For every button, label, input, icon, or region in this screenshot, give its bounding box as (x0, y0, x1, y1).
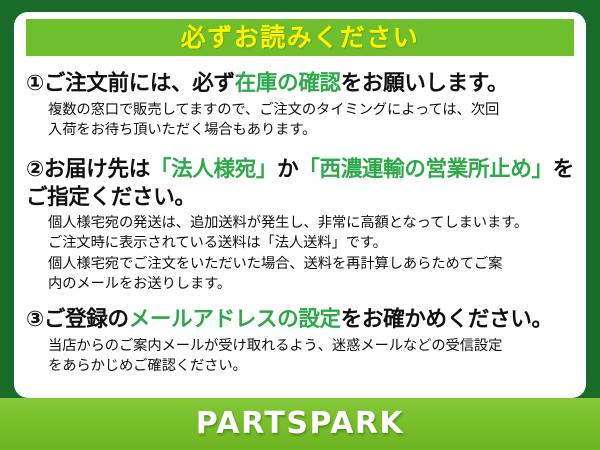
notice-item-1-lead-part-1: ご注文前には、必ず (44, 71, 235, 96)
notice-item-2-lead-part-3: か (277, 157, 298, 182)
notice-item-3-lead-part-1: ご登録の (44, 307, 129, 332)
notice-item-3-marker: ③ (26, 307, 44, 332)
notice-item-3-lead: ③ご登録のメールアドレスの設定をお確かめください。 (26, 306, 578, 334)
notice-item-1-lead-part-3: をお願いします。 (341, 71, 508, 96)
notice-item-2: ②お届け先は「法人様宛」か「西濃運輸の営業所止め」をご指定ください。 個人様宅宛… (26, 156, 578, 294)
notice-panel: 必ずお読みください ①ご注文前には、必ず在庫の確認をお願いします。 複数の窓口で… (14, 12, 586, 398)
notice-body: ①ご注文前には、必ず在庫の確認をお願いします。 複数の窓口で販売してますので、ご… (14, 60, 586, 398)
notice-item-2-detail-line-3: 個人様宅宛でご注文をいただいた場合、送料を再計算しあらためてご案 (48, 254, 578, 274)
notice-item-1-detail-line-1: 複数の窓口で販売してますので、ご注文のタイミングによっては、次回 (48, 100, 578, 120)
notice-item-3-detail-line-2: をあらかじめご確認ください。 (48, 356, 578, 376)
notice-item-1: ①ご注文前には、必ず在庫の確認をお願いします。 複数の窓口で販売してますので、ご… (26, 70, 578, 140)
notice-item-2-detail-line-2: ご注文時に表示されている送料は「法人送料」です。 (48, 233, 578, 253)
notice-item-1-lead-highlight: 在庫の確認 (235, 71, 341, 96)
notice-item-2-detail-line-4: 内のメールをお送りします。 (48, 274, 578, 294)
notice-item-2-detail-line-1: 個人様宅宛の発送は、追加送料が発生し、非常に高額となってしまいます。 (48, 213, 578, 233)
brand-footer: PARTSPARK (0, 398, 600, 450)
page-title: 必ずお読みください (181, 25, 420, 50)
notice-item-2-marker: ② (26, 157, 44, 182)
notice-item-2-lead-highlight-1: 「法人様宛」 (150, 157, 277, 182)
notice-item-2-lead: ②お届け先は「法人様宛」か「西濃運輸の営業所止め」をご指定ください。 (26, 156, 578, 211)
notice-item-3-detail-line-1: 当店からのご案内メールが受け取れるよう、迷惑メールなどの受信設定 (48, 336, 578, 356)
notice-item-2-lead-part-1: お届け先は (44, 157, 150, 182)
notice-item-1-detail-line-2: 入荷をお待ち頂いただく場合もあります。 (48, 120, 578, 140)
notice-item-3-detail: 当店からのご案内メールが受け取れるよう、迷惑メールなどの受信設定 をあらかじめご… (48, 336, 578, 377)
notice-item-1-detail: 複数の窓口で販売してますので、ご注文のタイミングによっては、次回 入荷をお待ち頂… (48, 100, 578, 141)
notice-item-3: ③ご登録のメールアドレスの設定をお確かめください。 当店からのご案内メールが受け… (26, 306, 578, 376)
notice-item-2-detail: 個人様宅宛の発送は、追加送料が発生し、非常に高額となってしまいます。 ご注文時に… (48, 213, 578, 294)
notice-item-2-lead-highlight-2: 「西濃運輸の営業所止め」 (298, 157, 552, 182)
brand-name: PARTSPARK (196, 409, 405, 439)
notice-item-3-lead-part-3: をお確かめください。 (341, 307, 553, 332)
notice-title-band: 必ずお読みください (26, 19, 574, 56)
notice-item-3-lead-highlight: メールアドレスの設定 (129, 307, 341, 332)
notice-banner: 必ずお読みください ①ご注文前には、必ず在庫の確認をお願いします。 複数の窓口で… (0, 0, 600, 450)
notice-item-1-marker: ① (26, 71, 44, 96)
notice-item-1-lead: ①ご注文前には、必ず在庫の確認をお願いします。 (26, 70, 578, 98)
